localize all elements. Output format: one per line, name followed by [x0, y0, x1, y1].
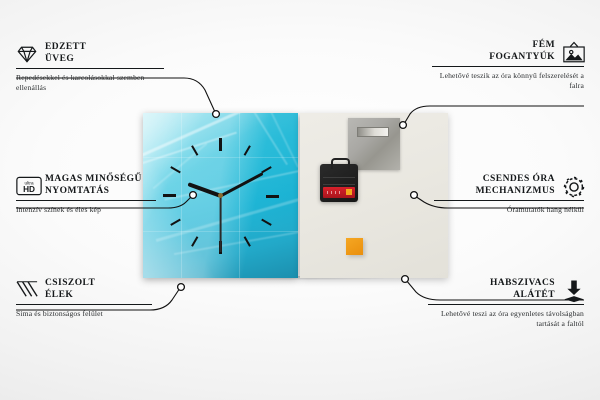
clock-face	[143, 113, 298, 278]
callout-title: EDZETTÜVEG	[45, 42, 86, 65]
callout-subtitle: Intenzív színek és éles kép	[16, 205, 156, 215]
callout-title: FÉMFOGANTYÚK	[489, 40, 555, 63]
callout-title: MAGAS MINŐSÉGŰNYOMTATÁS	[45, 174, 142, 197]
callout-csendes-ora-mechanizmus: CSENDES ÓRAMECHANIZMUS Óramutatók hang n…	[434, 174, 584, 215]
callout-divider	[434, 200, 584, 201]
mechanism-seam	[323, 184, 355, 185]
beveled-edges-icon	[16, 279, 38, 301]
clock-second-hand	[220, 196, 222, 252]
callout-edzett-uveg: EDZETTÜVEG Repedésekkel és karcolásokkal…	[16, 42, 164, 93]
callout-habszivacs-alatet: HABSZIVACSALÁTÉT Lehetővé teszi az óra e…	[428, 278, 584, 329]
metal-hanger-plate	[348, 118, 400, 170]
callout-subtitle: Repedésekkel és karcolásokkal szemben el…	[16, 73, 164, 93]
clock-tick	[221, 195, 279, 197]
battery	[323, 187, 355, 198]
callout-subtitle: Lehetővé teszi az óra egyenletes távolsá…	[428, 309, 584, 329]
hd-label: HD	[23, 185, 35, 194]
gear-icon	[562, 175, 584, 197]
callout-csiszolt-elek: CSISZOLTÉLEK Sima és biztonságos felület	[16, 278, 152, 319]
clock-center-cap	[218, 193, 223, 198]
battery-plus-terminal	[346, 189, 352, 195]
callout-fem-fogantyuk: FÉMFOGANTYÚK Lehetővé teszik az óra könn…	[432, 40, 584, 91]
mechanism-seam	[323, 177, 355, 178]
mechanism-hanging-loop	[331, 158, 350, 169]
callout-divider	[16, 304, 152, 305]
callout-header: EDZETTÜVEG	[16, 42, 164, 65]
clock-tick	[220, 138, 222, 196]
clock-front-panel	[143, 113, 298, 278]
foam-pad-icon	[562, 279, 584, 301]
callout-magas-minosegu-nyomtatas: ultra HD MAGAS MINŐSÉGŰNYOMTATÁS Intenzí…	[16, 174, 156, 215]
clock-back-panel	[300, 113, 448, 278]
callout-subtitle: Lehetővé teszik az óra könnyű felszerelé…	[432, 71, 584, 91]
callout-title: HABSZIVACSALÁTÉT	[490, 278, 555, 301]
callout-divider	[16, 200, 156, 201]
infographic-canvas: EDZETTÜVEG Repedésekkel és karcolásokkal…	[0, 0, 600, 400]
callout-header: ultra HD MAGAS MINŐSÉGŰNYOMTATÁS	[16, 174, 156, 197]
callout-header: FÉMFOGANTYÚK	[432, 40, 584, 63]
clock-mechanism	[320, 164, 358, 202]
diamond-icon	[16, 43, 38, 65]
hanger-keyhole-slot	[357, 127, 389, 137]
ultra-hd-icon: ultra HD	[16, 175, 38, 197]
callout-divider	[16, 68, 164, 69]
foam-pad	[346, 238, 363, 255]
callout-header: CSENDES ÓRAMECHANIZMUS	[434, 174, 584, 197]
callout-subtitle: Sima és biztonságos felület	[16, 309, 152, 319]
callout-header: CSISZOLTÉLEK	[16, 278, 152, 301]
callout-divider	[432, 66, 584, 67]
callout-title: CSENDES ÓRAMECHANIZMUS	[476, 174, 555, 197]
callout-subtitle: Óramutatók hang nélkül	[434, 205, 584, 215]
product-photo	[143, 113, 448, 278]
callout-divider	[428, 304, 584, 305]
callout-title: CSISZOLTÉLEK	[45, 278, 95, 301]
picture-hanger-icon	[562, 41, 584, 63]
callout-header: HABSZIVACSALÁTÉT	[428, 278, 584, 301]
